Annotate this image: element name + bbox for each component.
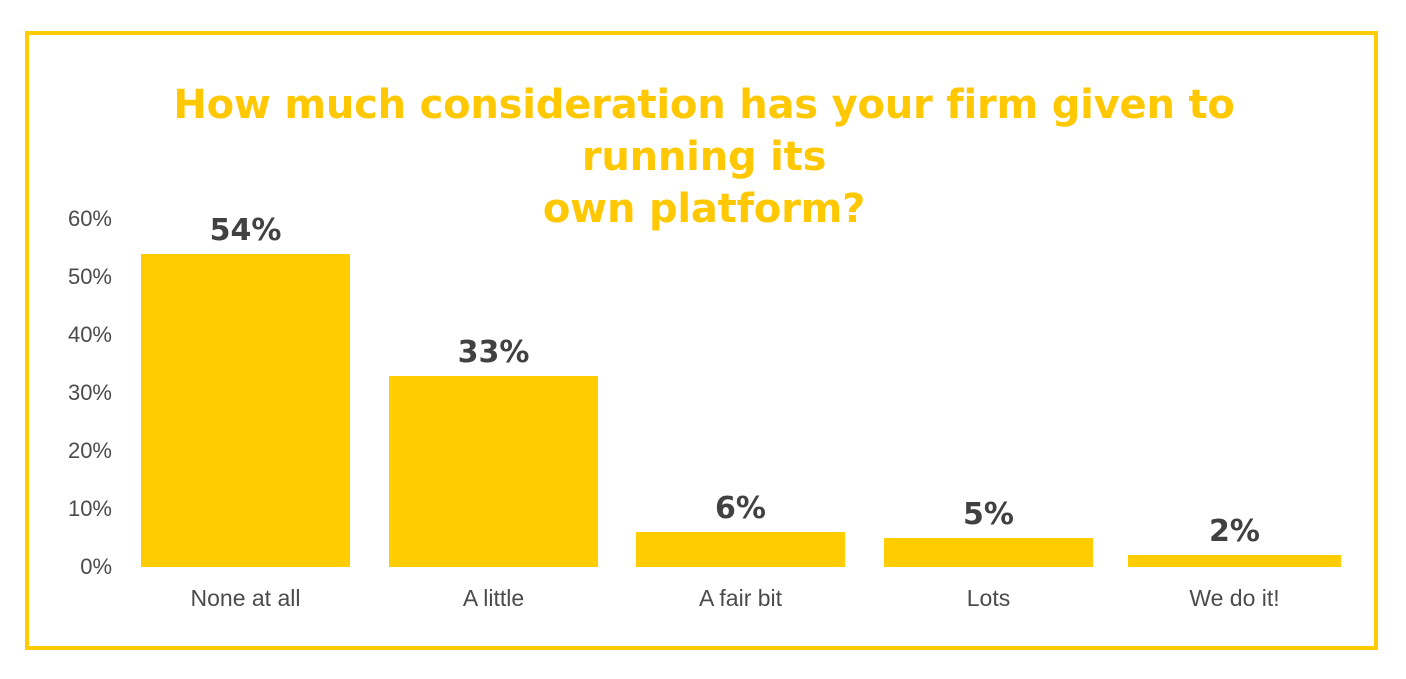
bar-value-a-little: 33% (389, 338, 598, 368)
y-axis-tick-40: 40% (42, 324, 112, 346)
y-axis-tick-30: 30% (42, 382, 112, 404)
bar-lots[interactable] (884, 538, 1093, 567)
y-axis-tick-60: 60% (42, 208, 112, 230)
bar-value-none-at-all: 54% (141, 216, 350, 246)
y-axis-tick-10: 10% (42, 498, 112, 520)
chart-title: How much consideration has your firm giv… (159, 79, 1249, 235)
bar-a-fair-bit[interactable] (636, 532, 845, 567)
y-axis-tick-20: 20% (42, 440, 112, 462)
chart-title-line-1: How much consideration has your firm giv… (159, 79, 1249, 183)
y-axis-tick-50: 50% (42, 266, 112, 288)
bar-group-a-fair-bit[interactable]: 6% (636, 219, 845, 567)
bar-a-little[interactable] (389, 376, 598, 567)
plot-area: 0% 10% 20% 30% 40% 50% 60% 54% 33% 6% (117, 219, 1362, 568)
x-axis-label-a-fair-bit: A fair bit (636, 584, 845, 612)
y-axis: 0% 10% 20% 30% 40% 50% 60% (42, 219, 112, 567)
x-axis-label-none-at-all: None at all (141, 584, 350, 612)
bar-group-none-at-all[interactable]: 54% (141, 219, 350, 567)
x-axis-label-a-little: A little (389, 584, 598, 612)
bar-series: 54% 33% 6% 5% 2% (117, 219, 1362, 567)
x-axis: None at all A little A fair bit Lots We … (117, 584, 1362, 624)
bar-value-a-fair-bit: 6% (636, 494, 845, 524)
x-axis-label-lots: Lots (884, 584, 1093, 612)
bar-group-a-little[interactable]: 33% (389, 219, 598, 567)
bar-value-lots: 5% (884, 500, 1093, 530)
chart-card: How much consideration has your firm giv… (25, 31, 1378, 650)
x-axis-label-we-do-it: We do it! (1128, 584, 1341, 612)
bar-none-at-all[interactable] (141, 254, 350, 567)
bar-group-we-do-it[interactable]: 2% (1128, 219, 1341, 567)
bar-value-we-do-it: 2% (1128, 517, 1341, 547)
bar-we-do-it[interactable] (1128, 555, 1341, 567)
y-axis-tick-0: 0% (42, 556, 112, 578)
bar-group-lots[interactable]: 5% (884, 219, 1093, 567)
